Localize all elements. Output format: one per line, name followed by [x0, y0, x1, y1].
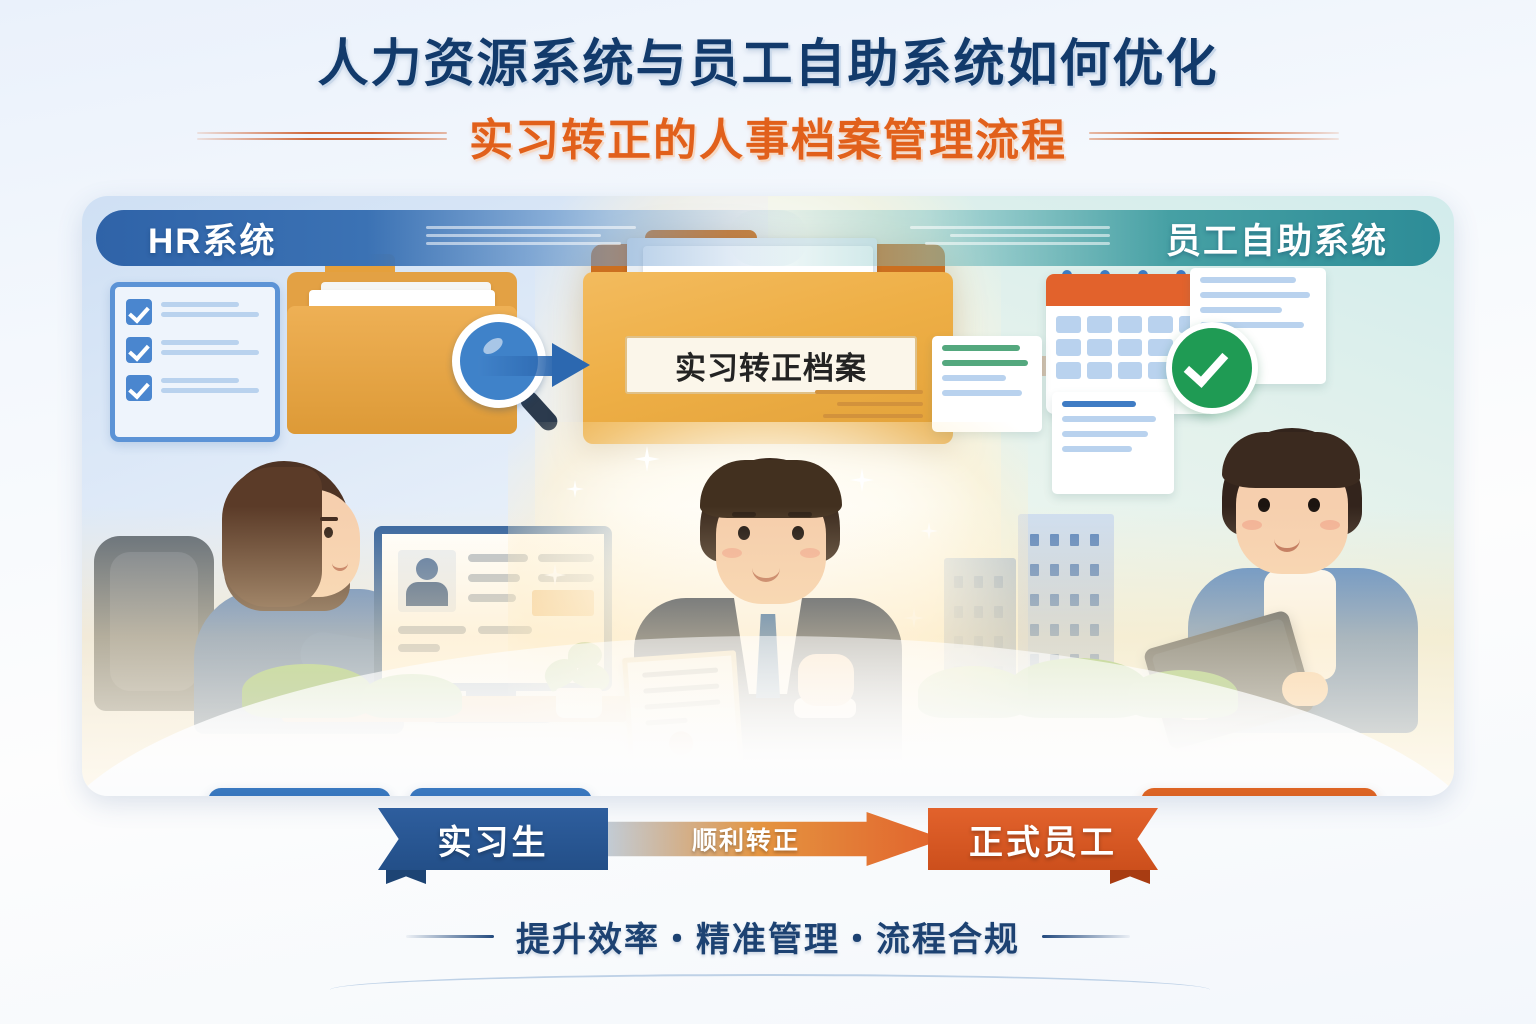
chip-archive-management[interactable]: 档案管理 — [208, 788, 391, 796]
footer-rule-right — [1042, 935, 1130, 938]
ribbon-start: 实习生 — [378, 808, 608, 870]
footer-tagline: 提升效率・精准管理・流程合规 — [0, 912, 1536, 961]
ribbon-start-label: 实习生 — [438, 815, 549, 864]
ribbon-end: 正式员工 — [928, 808, 1158, 870]
subtitle: 实习转正的人事档案管理流程 — [469, 104, 1067, 168]
header-deco-lines-left — [426, 226, 646, 252]
arrow-right-icon — [478, 343, 588, 387]
chip-personal-info-submission[interactable]: 个人信皀瑰报 — [1141, 788, 1378, 796]
checklist-icon — [110, 282, 280, 442]
subtitle-row: 实习转正的人事档案管理流程 — [0, 108, 1536, 164]
footer-rule-left — [406, 935, 494, 938]
ribbon-middle-arrow: 顺利转正 — [592, 812, 944, 866]
hr-feature-chips: 档案管理 夸核评估 转正申批 — [208, 788, 638, 796]
folder-label-text: 实习转正档案 — [675, 343, 867, 388]
document-icon — [1052, 392, 1174, 494]
main-panel: 实习转正档案 — [82, 196, 1454, 796]
employee-self-service-header: 员工自助系统 — [728, 210, 1440, 266]
main-title: 人力资源系统与员工自助系统如何优化 — [0, 36, 1536, 92]
folder-label: 实习转正档案 — [625, 336, 917, 394]
infographic-canvas: 人力资源系统与员工自助系统如何优化 实习转正的人事档案管理流程 — [0, 0, 1536, 1024]
hr-system-header: HR系统 — [96, 210, 808, 266]
ess-feature-chips: 个人信皀瑰报 实习芯结 申洧转正 — [978, 788, 1378, 796]
footer-arc — [330, 974, 1210, 1006]
employee-self-service-title: 员工自助系统 — [1166, 213, 1388, 264]
ribbon-middle-label: 顺利转正 — [692, 821, 800, 857]
transition-ribbon: 顺利转正 实习生 正式员工 — [378, 808, 1158, 882]
subtitle-rule-right — [1089, 132, 1339, 141]
header-deco-lines-right — [890, 226, 1110, 252]
title-block: 人力资源系统与员工自助系统如何优化 实习转正的人事档案管理流程 — [0, 36, 1536, 164]
green-check-icon — [1166, 322, 1258, 414]
subtitle-rule-left — [197, 132, 447, 141]
footer-text: 提升效率・精准管理・流程合规 — [516, 912, 1020, 961]
chip-assessment-evaluation[interactable]: 夸核评估 — [409, 788, 592, 796]
ribbon-end-label: 正式员工 — [969, 815, 1117, 864]
hr-system-title: HR系统 — [148, 213, 277, 264]
document-icon — [932, 336, 1042, 432]
